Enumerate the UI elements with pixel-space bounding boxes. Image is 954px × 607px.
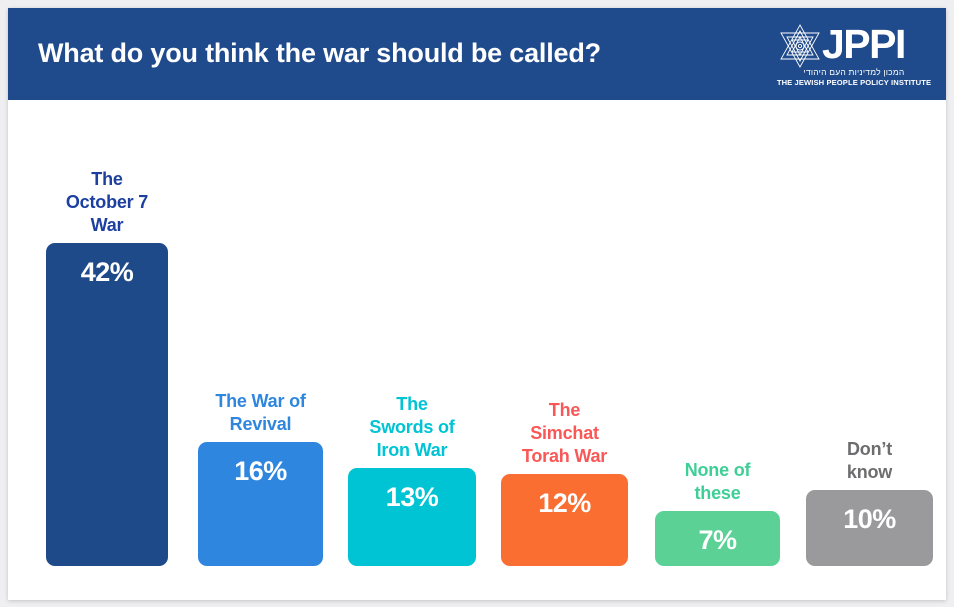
slide-canvas: What do you think the war should be call… [8, 8, 946, 600]
bar-category-line: Don’t [788, 438, 946, 461]
slide-header: What do you think the war should be call… [8, 8, 946, 100]
bar-chart: 42%TheOctober 7War16%The War ofRevival13… [8, 100, 946, 600]
bar-category-label: The War ofRevival [180, 390, 341, 436]
bar-value-label: 10% [806, 504, 933, 535]
bar-category-line: Torah War [483, 445, 646, 468]
bar-category-line: The War of [180, 390, 341, 413]
star-of-david-icon [774, 22, 826, 70]
bar-category-line: None of [637, 459, 798, 482]
bar[interactable]: 16% [198, 442, 323, 566]
bar-group: 13%TheSwords ofIron War [348, 468, 476, 566]
bar-value-label: 13% [348, 482, 476, 513]
bar[interactable]: 10% [806, 490, 933, 566]
bar-category-label: TheSimchatTorah War [483, 399, 646, 468]
page-title: What do you think the war should be call… [38, 32, 738, 74]
bar[interactable]: 13% [348, 468, 476, 566]
jppi-logo: JPPI המכון למדיניות העם היהודי THE JEWIS… [774, 20, 934, 90]
bar[interactable]: 7% [655, 511, 780, 566]
bar-category-line: Revival [180, 413, 341, 436]
bar-category-line: know [788, 461, 946, 484]
bar-group: 12%TheSimchatTorah War [501, 474, 628, 566]
bar-group: 7%None ofthese [655, 511, 780, 566]
logo-hebrew-tagline: המכון למדיניות העם היהודי [774, 67, 934, 77]
bar-group: 10%Don’tknow [806, 490, 933, 566]
bar-category-line: October 7 [28, 191, 186, 214]
bar-category-line: The [28, 168, 186, 191]
bar-group: 16%The War ofRevival [198, 442, 323, 566]
bar-value-label: 12% [501, 488, 628, 519]
bar[interactable]: 42% [46, 243, 168, 566]
bar-value-label: 42% [46, 257, 168, 288]
bar-value-label: 7% [655, 525, 780, 556]
bar-category-label: TheOctober 7War [28, 168, 186, 237]
logo-english-tagline: THE JEWISH PEOPLE POLICY INSTITUTE [774, 78, 934, 87]
bar-category-line: Swords of [330, 416, 494, 439]
bar-category-label: None ofthese [637, 459, 798, 505]
bar-category-line: The [483, 399, 646, 422]
bar-category-label: Don’tknow [788, 438, 946, 484]
bar-category-line: these [637, 482, 798, 505]
logo-wordmark: JPPI [822, 18, 905, 70]
bar-category-line: Simchat [483, 422, 646, 445]
bar-group: 42%TheOctober 7War [46, 243, 168, 566]
bar[interactable]: 12% [501, 474, 628, 566]
bar-value-label: 16% [198, 456, 323, 487]
bar-category-line: War [28, 214, 186, 237]
bar-category-line: Iron War [330, 439, 494, 462]
bar-category-line: The [330, 393, 494, 416]
bar-category-label: TheSwords ofIron War [330, 393, 494, 462]
